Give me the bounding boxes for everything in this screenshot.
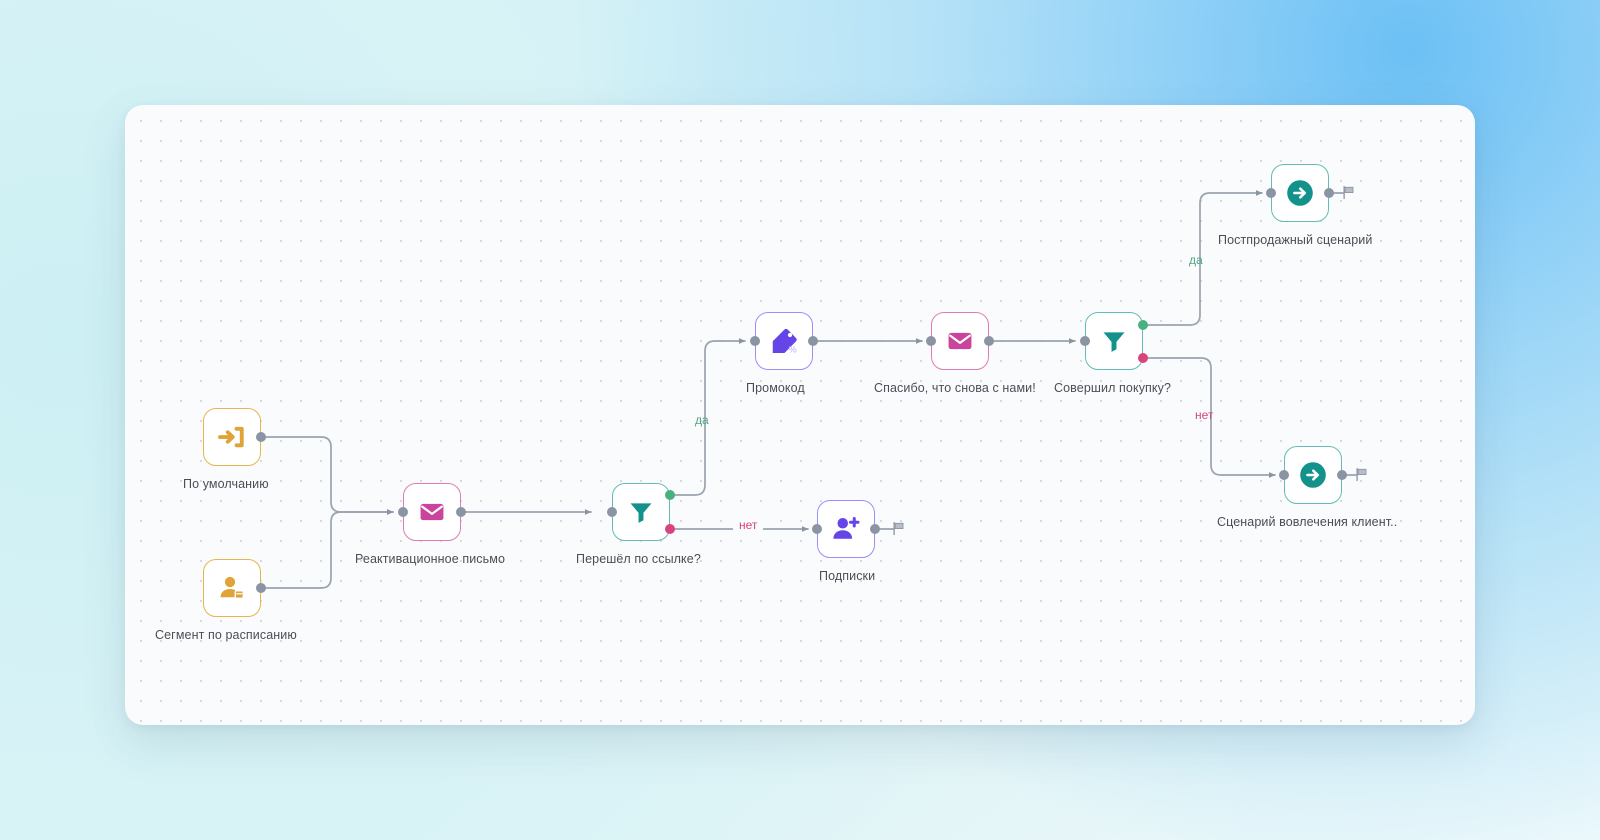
node-label-clicked-link: Перешёл по ссылке? (576, 552, 701, 566)
port-made-purchase-yes[interactable] (1138, 320, 1148, 330)
edge-label-clicked-yes: да (695, 413, 709, 427)
edge-label-clicked-no: нет (733, 518, 763, 532)
finish-flag-icon (1354, 467, 1369, 487)
port-post-sale-out[interactable] (1324, 188, 1334, 198)
node-scheduled-segment[interactable] (203, 559, 261, 617)
node-label-post-sale-scenario: Постпродажный сценарий (1218, 233, 1372, 247)
goto-scenario-icon (1297, 459, 1329, 491)
port-reactivation-email-out[interactable] (456, 507, 466, 517)
port-engagement-in[interactable] (1279, 470, 1289, 480)
node-reactivation-email[interactable] (403, 483, 461, 541)
svg-text:%: % (789, 344, 797, 354)
node-label-subscriptions: Подписки (819, 569, 875, 583)
port-post-sale-in[interactable] (1266, 188, 1276, 198)
person-schedule-icon (217, 573, 247, 603)
node-engagement-scenario[interactable] (1284, 446, 1342, 504)
port-thanks-email-out[interactable] (984, 336, 994, 346)
entry-arrow-icon (217, 422, 247, 452)
node-post-sale-scenario[interactable] (1271, 164, 1329, 222)
node-label-default-entry: По умолчанию (183, 477, 269, 491)
node-thanks-email[interactable] (931, 312, 989, 370)
filter-funnel-icon (1100, 327, 1128, 355)
discount-tag-icon: % (769, 326, 799, 356)
flow-canvas[interactable]: По умолчанию Сегмент по расписанию Реакт… (125, 105, 1475, 725)
edge-label-purchase-yes: да (1189, 253, 1203, 267)
port-thanks-email-in[interactable] (926, 336, 936, 346)
port-made-purchase-no[interactable] (1138, 353, 1148, 363)
port-promo-code-in[interactable] (750, 336, 760, 346)
edge-label-purchase-no: нет (1195, 408, 1213, 422)
node-label-reactivation-email: Реактивационное письмо (355, 552, 505, 566)
port-clicked-link-in[interactable] (607, 507, 617, 517)
filter-funnel-icon (627, 498, 655, 526)
node-promo-code[interactable]: % (755, 312, 813, 370)
finish-flag-icon (891, 521, 906, 541)
node-subscriptions[interactable] (817, 500, 875, 558)
envelope-icon (418, 498, 446, 526)
node-label-scheduled-segment: Сегмент по расписанию (155, 628, 297, 642)
port-reactivation-email-in[interactable] (398, 507, 408, 517)
port-scheduled-segment-out[interactable] (256, 583, 266, 593)
finish-flag-icon (1341, 185, 1356, 205)
node-label-engagement-scenario: Сценарий вовлечения клиент.. (1217, 515, 1397, 529)
port-promo-code-out[interactable] (808, 336, 818, 346)
envelope-icon (946, 327, 974, 355)
node-clicked-link[interactable] (612, 483, 670, 541)
node-label-promo-code: Промокод (746, 381, 805, 395)
port-clicked-link-yes[interactable] (665, 490, 675, 500)
goto-scenario-icon (1284, 177, 1316, 209)
port-clicked-link-no[interactable] (665, 524, 675, 534)
port-subscriptions-in[interactable] (812, 524, 822, 534)
port-engagement-out[interactable] (1337, 470, 1347, 480)
node-label-thanks-email: Спасибо, что снова с нами! (874, 381, 1036, 395)
port-subscriptions-out[interactable] (870, 524, 880, 534)
port-default-entry-out[interactable] (256, 432, 266, 442)
person-add-icon (831, 514, 861, 544)
node-made-purchase[interactable] (1085, 312, 1143, 370)
port-made-purchase-in[interactable] (1080, 336, 1090, 346)
node-label-made-purchase: Совершил покупку? (1054, 381, 1171, 395)
node-default-entry[interactable] (203, 408, 261, 466)
